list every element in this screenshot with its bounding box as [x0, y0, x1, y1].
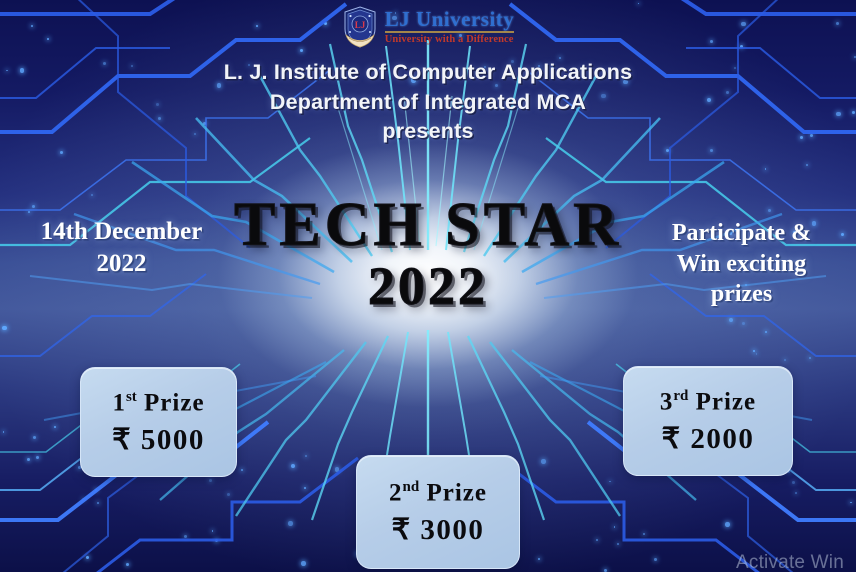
- prize-label-tail: Prize: [137, 389, 205, 416]
- prize-card-second: 2nd Prize ₹ 3000: [356, 455, 520, 569]
- prize-amount: ₹ 3000: [392, 516, 485, 545]
- prize-label-tail: Prize: [419, 479, 487, 506]
- brand-tagline: University with a Difference: [385, 35, 515, 46]
- prize-card-third: 3rd Prize ₹ 2000: [623, 366, 793, 476]
- event-date: 14th December 2022: [14, 216, 229, 280]
- headline-department: Department of Integrated MCA: [0, 88, 856, 118]
- event-poster: LJ LJ University University with a Diffe…: [0, 0, 856, 572]
- prize-rank: 1: [112, 389, 126, 416]
- brand-text: LJ University University with a Differen…: [385, 9, 515, 46]
- headline-block: L. J. Institute of Computer Applications…: [0, 58, 856, 147]
- prize-card-first: 1st Prize ₹ 5000: [80, 367, 237, 477]
- prize-suffix: rd: [673, 388, 688, 404]
- prize-amount: ₹ 2000: [662, 425, 755, 454]
- prize-label-tail: Prize: [688, 388, 756, 415]
- promo-line1: Participate &: [639, 218, 844, 249]
- prize-amount: ₹ 5000: [112, 426, 205, 455]
- headline-institute: L. J. Institute of Computer Applications: [0, 58, 856, 88]
- event-date-line1: 14th December: [14, 216, 229, 248]
- prize-rank: 2: [389, 479, 403, 506]
- lj-university-shield-crest-icon: LJ: [342, 6, 378, 48]
- brand-name: LJ University: [385, 9, 515, 33]
- prize-suffix: nd: [403, 479, 420, 495]
- promo-line3: prizes: [639, 279, 844, 310]
- prize-label: 3rd Prize: [660, 388, 756, 416]
- prize-rank: 3: [660, 388, 674, 415]
- svg-text:LJ: LJ: [354, 20, 365, 30]
- promo-text: Participate & Win exciting prizes: [639, 218, 844, 310]
- promo-line2: Win exciting: [639, 249, 844, 280]
- prize-suffix: st: [126, 389, 137, 405]
- event-date-line2: 2022: [14, 248, 229, 280]
- windows-activation-watermark: Activate Win: [736, 552, 844, 572]
- headline-presents: presents: [0, 117, 856, 147]
- prize-label: 1st Prize: [112, 389, 204, 417]
- prize-label: 2nd Prize: [389, 479, 487, 507]
- university-brand-bar: LJ LJ University University with a Diffe…: [0, 6, 856, 48]
